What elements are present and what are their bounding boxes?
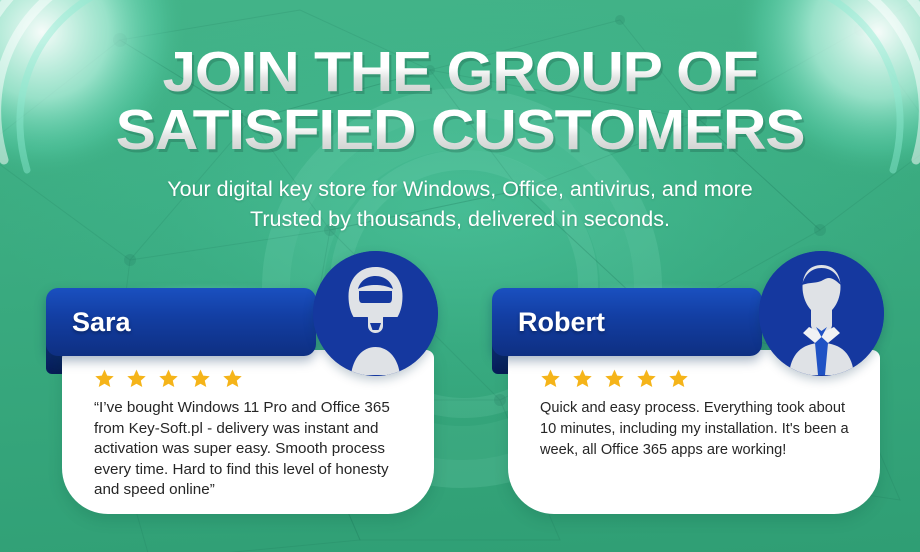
- star-icon: [158, 368, 179, 389]
- subtitle-line-2: Trusted by thousands, delivered in secon…: [0, 204, 920, 234]
- star-icon: [126, 368, 147, 389]
- star-icon: [668, 368, 689, 389]
- card-name-banner: Sara: [46, 288, 316, 356]
- star-icon: [572, 368, 593, 389]
- reviewer-name: Sara: [46, 307, 131, 338]
- testimonial-card-sara: Sara: [46, 288, 434, 514]
- reviewer-name: Robert: [492, 307, 605, 338]
- rating-stars: [540, 368, 858, 389]
- card-name-banner: Robert: [492, 288, 762, 356]
- star-icon: [604, 368, 625, 389]
- banner-heading-block: JOIN THE GROUP OF SATISFIED CUSTOMERS Yo…: [0, 46, 920, 234]
- testimonial-card-robert: Robert: [492, 288, 880, 514]
- subtitle-line-1: Your digital key store for Windows, Offi…: [0, 174, 920, 204]
- star-icon: [540, 368, 561, 389]
- card-content: “I’ve bought Windows 11 Pro and Office 3…: [94, 368, 412, 501]
- star-icon: [94, 368, 115, 389]
- review-text: Quick and easy process. Everything took …: [540, 398, 858, 461]
- rating-stars: [94, 368, 412, 389]
- review-text: “I’ve bought Windows 11 Pro and Office 3…: [94, 398, 412, 501]
- male-avatar-icon: [759, 251, 884, 376]
- star-icon: [222, 368, 243, 389]
- page-title-line-1: JOIN THE GROUP OF: [0, 46, 920, 98]
- testimonial-banner: JOIN THE GROUP OF SATISFIED CUSTOMERS Yo…: [0, 0, 920, 552]
- female-avatar-icon: [313, 251, 438, 376]
- page-title-line-2: SATISFIED CUSTOMERS: [0, 104, 920, 156]
- star-icon: [636, 368, 657, 389]
- star-icon: [190, 368, 211, 389]
- card-content: Quick and easy process. Everything took …: [540, 368, 858, 461]
